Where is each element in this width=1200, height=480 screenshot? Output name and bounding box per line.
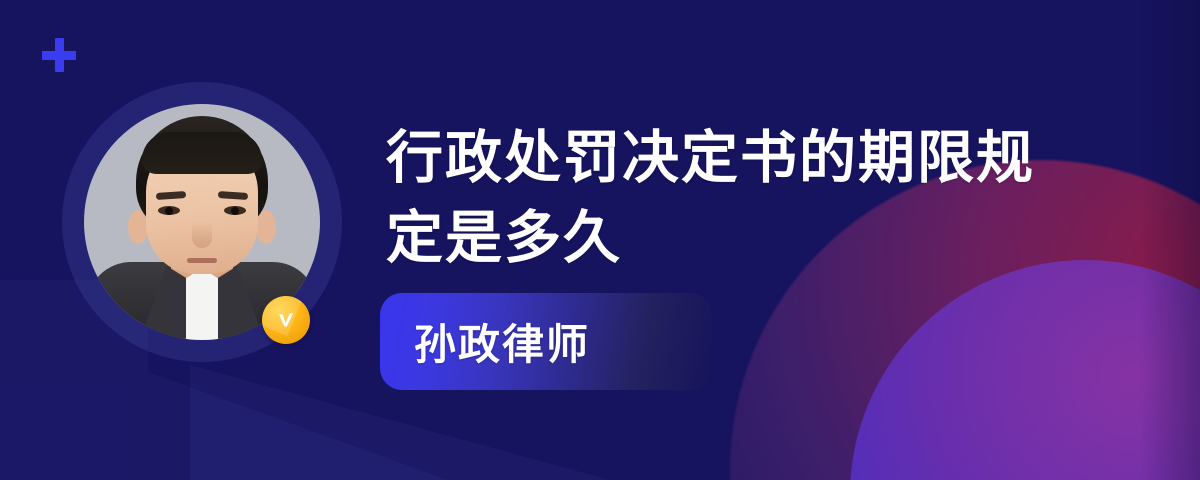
lawyer-name-badge[interactable]: 孙政律师 (380, 293, 712, 390)
question-title-line-2: 定是多久 (386, 198, 1086, 278)
question-title-line-1: 行政处罚决定书的期限规 (386, 118, 1086, 198)
decor-right-edge-shade (1140, 0, 1200, 480)
plus-icon (42, 38, 76, 72)
portrait-hair-fringe (142, 132, 262, 174)
avatar[interactable] (62, 82, 342, 362)
portrait-pupil-left (165, 207, 173, 215)
portrait-pupil-right (231, 207, 239, 215)
question-title-block: 行政处罚决定书的期限规 定是多久 (386, 118, 1086, 278)
verified-check-icon (262, 296, 310, 344)
plus-icon-bar-vertical (55, 38, 64, 72)
lawyer-question-banner: 行政处罚决定书的期限规 定是多久 孙政律师 (0, 0, 1200, 480)
portrait-nose (192, 222, 212, 248)
lawyer-name-label: 孙政律师 (380, 311, 590, 372)
portrait-mouth (187, 258, 217, 263)
